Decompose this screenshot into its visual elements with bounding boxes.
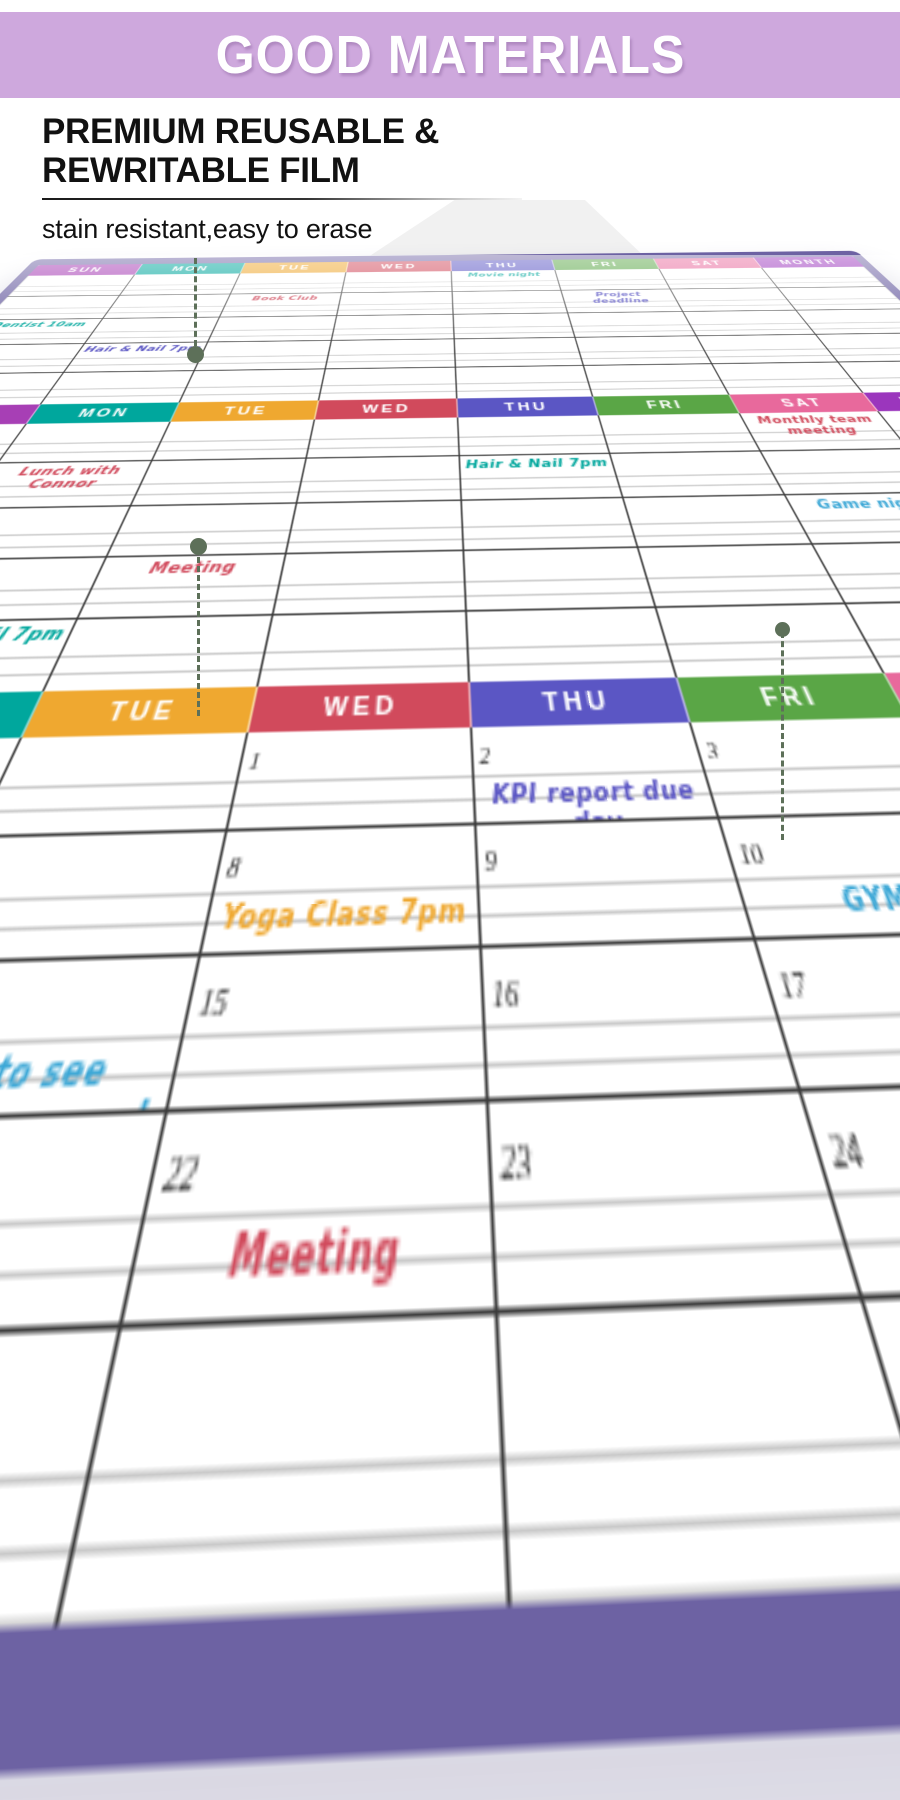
calendar-event-note: Hair & Nail 7pm <box>0 626 69 651</box>
calendar-date-number: 10 <box>733 837 767 871</box>
calendar-day-cell[interactable] <box>0 295 120 319</box>
calendar-day-cell[interactable] <box>342 271 452 292</box>
calendar-sheet: SUNMONTUEWEDTHUFRISATMONTHMovie nightBoo… <box>0 257 900 1692</box>
calendar-day-cell[interactable]: Meeting <box>79 555 286 618</box>
calendar-day-cell[interactable] <box>466 608 678 682</box>
callout-dot-icon <box>187 346 204 363</box>
calendar-day-cell[interactable]: 16 <box>481 939 802 1100</box>
calendar-dow-fri: FRI <box>593 395 739 416</box>
calendar-day-cell[interactable] <box>103 294 231 318</box>
calendar-day-cell[interactable] <box>337 292 453 315</box>
feature-heading-premium-film: PREMIUM REUSABLE & REWRITABLE FILM <box>42 112 602 190</box>
calendar-dow-tue: TUE <box>23 687 258 738</box>
calendar-day-cell[interactable] <box>195 341 331 370</box>
calendar-day-cell[interactable] <box>297 456 461 502</box>
calendar-event-note: Book Club <box>231 295 338 303</box>
calendar-event-note: Hair & Nail 7pm <box>464 457 611 472</box>
callout-dot-icon <box>190 538 207 555</box>
feature-heading-line-1: PREMIUM REUSABLE & <box>42 112 602 151</box>
callout-dashed-line <box>194 258 197 346</box>
calendar-day-cell[interactable] <box>556 269 671 290</box>
feature-divider-premium-film <box>42 198 522 200</box>
calendar-day-cell[interactable] <box>624 495 812 547</box>
calendar-day-cell[interactable]: Monthly team meeting <box>740 411 900 450</box>
calendar-day-cell[interactable] <box>273 552 465 614</box>
calendar-day-cell[interactable] <box>458 415 611 454</box>
calendar-date-number: 17 <box>772 962 812 1005</box>
calendar-date-number: 8 <box>224 850 243 884</box>
calendar-event-note: Project deadline <box>566 291 676 306</box>
calendar-day-cell[interactable] <box>454 338 584 367</box>
calendar-day-cell[interactable]: 2KPI report due day <box>471 722 719 821</box>
calendar-day-cell[interactable] <box>461 498 638 551</box>
calendar-day-cell[interactable] <box>332 314 454 340</box>
calendar-day-cell[interactable]: 15 <box>168 947 487 1110</box>
calendar-month-block: SUNMONTUEWEDTHUFRISATMONTHMonthly team m… <box>0 391 900 701</box>
calendar-day-cell[interactable] <box>231 272 346 293</box>
calendar-day-cell[interactable] <box>8 275 135 296</box>
calendar-event-note: KPI report due day <box>481 778 719 822</box>
calendar-event-note: Game night <box>792 496 900 513</box>
callout-marker-premium-film <box>185 258 205 363</box>
calendar-day-cell[interactable] <box>576 336 712 365</box>
calendar-product-image: SUNMONTUEWEDTHUFRISATMONTHMovie nightBoo… <box>0 255 900 605</box>
calendar-day-cell[interactable]: 3 <box>691 717 900 815</box>
calendar-dow-thu: THU <box>469 678 691 728</box>
calendar-month-block: SUNMONTUEWEDTHUFRISATMONTH12KPI report d… <box>0 664 900 1692</box>
calendar-day-cell[interactable] <box>659 268 778 289</box>
calendar-day-cell[interactable] <box>639 545 845 606</box>
calendar-day-cell[interactable] <box>307 417 459 457</box>
calendar-date-number: 3 <box>703 737 722 764</box>
callout-dot-icon <box>775 622 790 637</box>
calendar-day-cell[interactable] <box>657 605 884 678</box>
calendar-day-cell[interactable] <box>761 449 900 494</box>
calendar-day-cell[interactable] <box>326 340 456 369</box>
calendar-date-number: 2 <box>479 742 491 769</box>
calendar-day-cell[interactable] <box>797 309 900 334</box>
calendar-day-cell[interactable] <box>286 500 463 553</box>
calendar-day-cell[interactable] <box>611 451 785 496</box>
calendar-day-cell[interactable] <box>58 1317 509 1626</box>
callout-dashed-line <box>781 632 784 840</box>
calendar-day-cell[interactable] <box>41 371 195 404</box>
calendar-day-cell[interactable] <box>568 312 696 338</box>
header-banner: GOOD MATERIALS <box>0 12 900 98</box>
calendar-day-cell[interactable]: 9 <box>475 819 755 944</box>
calendar-day-cell[interactable] <box>762 267 884 288</box>
calendar-day-cell[interactable] <box>599 413 760 452</box>
calendar-day-cell[interactable]: Movie night <box>451 270 561 291</box>
calendar-day-cell[interactable]: Lunch with Connor <box>0 461 153 507</box>
calendar-day-cell[interactable] <box>45 616 273 691</box>
calendar-day-cell[interactable] <box>584 364 729 396</box>
calendar-event-note: GYM <box>749 881 900 926</box>
calendar-day-cell[interactable]: 22Meeting <box>122 1105 496 1324</box>
calendar-dow-wed: WED <box>248 682 471 732</box>
calendar-day-cell[interactable] <box>671 288 797 311</box>
calendar-date-number: 16 <box>490 970 520 1014</box>
calendar-event-note: Monthly team meeting <box>746 414 895 438</box>
calendar-day-cell[interactable] <box>153 420 315 460</box>
calendar-day-cell[interactable] <box>0 422 171 462</box>
calendar-day-cell[interactable] <box>697 335 839 363</box>
calendar-date-number: 22 <box>158 1147 201 1206</box>
feature-heading-line-2: REWRITABLE FILM <box>42 151 602 190</box>
calendar-day-cell[interactable] <box>453 313 576 339</box>
calendar-event-note: Go to see grandmom and granddad <box>0 1047 172 1121</box>
calendar-day-cell[interactable] <box>463 549 656 611</box>
calendar-day-cell[interactable] <box>180 369 325 402</box>
calendar-dow-mon: MON <box>26 402 180 423</box>
calendar-dow-tue: TUE <box>171 400 319 421</box>
calendar-day-cell[interactable] <box>452 290 568 313</box>
calendar-day-cell[interactable]: 8Yoga Class 7pm <box>202 825 481 951</box>
calendar-day-cell[interactable]: Book Club <box>221 293 342 317</box>
page-title: GOOD MATERIALS <box>215 24 685 86</box>
calendar-event-note: Movie night <box>455 272 555 279</box>
calendar-dow-wed: WED <box>315 398 458 419</box>
calendar-day-cell[interactable] <box>319 368 457 401</box>
calendar-day-cell[interactable] <box>120 273 241 294</box>
calendar-day-cell[interactable] <box>0 733 248 835</box>
calendar-day-cell[interactable]: Project deadline <box>562 289 683 312</box>
calendar-month-block: SUNMONTUEWEDTHUFRISATMONTHMovie nightBoo… <box>0 257 900 407</box>
calendar-date-number: 15 <box>196 979 232 1023</box>
callout-marker-high-resolution <box>188 538 208 716</box>
calendar-week-container: Monthly team meetingJanuaryNOTES:Lunch w… <box>0 409 900 701</box>
calendar-day-cell[interactable]: 23 <box>487 1094 863 1309</box>
calendar-date-number: 24 <box>822 1125 870 1182</box>
calendar-event-note: Yoga Class 7pm <box>212 895 471 941</box>
calendar-frame: SUNMONTUEWEDTHUFRISATMONTHMovie nightBoo… <box>0 251 900 1800</box>
calendar-week-container: Movie nightBook ClubProject deadlineDent… <box>0 267 900 407</box>
calendar-event-note: Lunch with Connor <box>0 465 146 494</box>
calendar-day-cell[interactable] <box>712 363 864 395</box>
calendar-week-container: 12KPI report due day34MeetingFebruaryNOT… <box>0 708 900 1692</box>
calendar-day-cell[interactable] <box>258 612 469 686</box>
calendar-event-note: Dentist 10am <box>0 321 98 330</box>
calendar-date-number: 9 <box>484 843 498 877</box>
calendar-day-cell[interactable] <box>455 366 593 398</box>
calendar-day-cell[interactable] <box>209 316 337 342</box>
calendar-day-cell[interactable] <box>497 1302 900 1605</box>
calendar-event-note: Meeting <box>137 1225 484 1307</box>
calendar-date-number: 1 <box>246 748 262 775</box>
callout-dashed-line <box>197 548 200 716</box>
callout-marker-waterproof <box>772 622 792 840</box>
calendar-dow-thu: THU <box>457 397 599 418</box>
calendar-day-cell[interactable]: Hair & Nail 7pm <box>459 454 623 499</box>
calendar-day-cell[interactable] <box>779 287 900 310</box>
calendar-day-cell[interactable]: 7 <box>0 831 227 959</box>
calendar-day-cell[interactable] <box>132 458 306 504</box>
calendar-date-number: 23 <box>499 1136 534 1194</box>
calendar-day-cell[interactable]: 1 <box>228 727 475 828</box>
calendar-dow-sat: SAT <box>729 393 879 414</box>
calendar-day-cell[interactable] <box>683 310 816 335</box>
